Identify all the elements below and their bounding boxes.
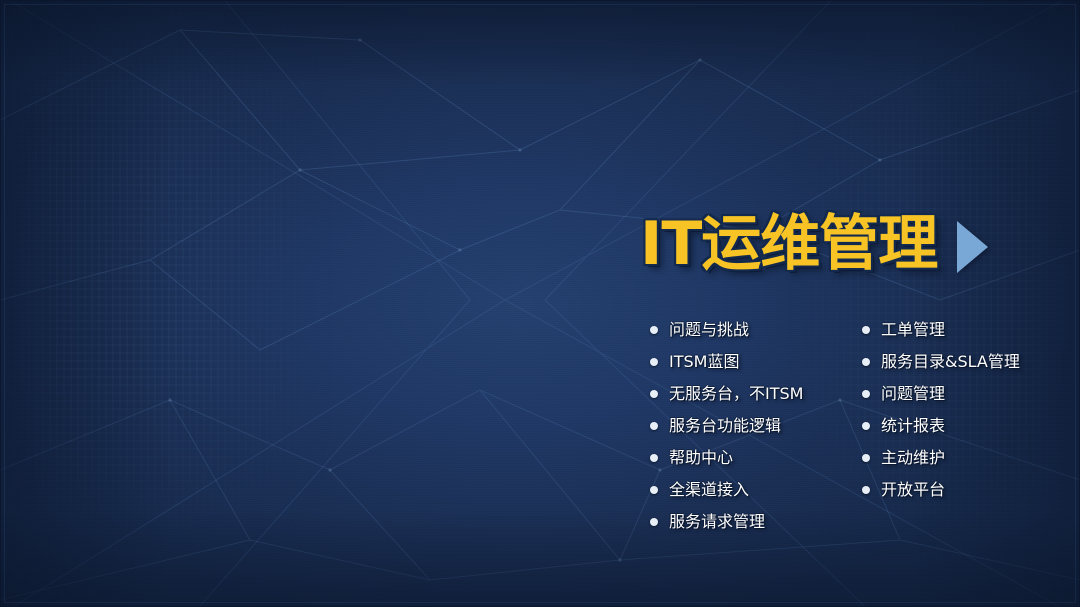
list-item[interactable]: 全渠道接入: [650, 474, 862, 506]
list-item-label: 全渠道接入: [669, 482, 749, 498]
bullet-column-left: 问题与挑战 ITSM蓝图 无服务台，不ITSM 服务台功能逻辑 帮助中心: [650, 314, 862, 538]
list-item[interactable]: 服务台功能逻辑: [650, 410, 862, 442]
bullet-dot-icon: [650, 422, 658, 430]
list-item[interactable]: 问题与挑战: [650, 314, 862, 346]
presentation-slide: IT运维管理 问题与挑战 ITSM蓝图 无服务台，不ITSM: [0, 0, 1080, 607]
list-item-label: 服务请求管理: [669, 514, 765, 530]
bullet-dot-icon: [862, 326, 870, 334]
list-item-label: ITSM蓝图: [669, 354, 739, 370]
list-item[interactable]: 工单管理: [862, 314, 1080, 346]
bullet-dot-icon: [650, 390, 658, 398]
title-row: IT运维管理: [640, 214, 988, 274]
list-item-label: 帮助中心: [669, 450, 733, 466]
list-item[interactable]: 问题管理: [862, 378, 1080, 410]
list-item[interactable]: 统计报表: [862, 410, 1080, 442]
list-item-label: 主动维护: [881, 450, 945, 466]
list-item[interactable]: ITSM蓝图: [650, 346, 862, 378]
list-item-label: 服务目录&SLA管理: [881, 354, 1020, 370]
list-item[interactable]: 帮助中心: [650, 442, 862, 474]
bullet-column-right: 工单管理 服务目录&SLA管理 问题管理 统计报表 主动维护: [862, 314, 1080, 506]
list-item-label: 无服务台，不ITSM: [669, 386, 803, 402]
bullet-dot-icon: [650, 358, 658, 366]
bullet-dot-icon: [650, 454, 658, 462]
bullet-dot-icon: [862, 454, 870, 462]
bullet-columns: 问题与挑战 ITSM蓝图 无服务台，不ITSM 服务台功能逻辑 帮助中心: [650, 314, 1080, 538]
list-item[interactable]: 主动维护: [862, 442, 1080, 474]
list-item-label: 开放平台: [881, 482, 945, 498]
list-item-label: 问题管理: [881, 386, 945, 402]
list-item-label: 工单管理: [881, 322, 945, 338]
list-item-label: 问题与挑战: [669, 322, 749, 338]
slide-content: IT运维管理 问题与挑战 ITSM蓝图 无服务台，不ITSM: [0, 0, 1080, 607]
list-item-label: 服务台功能逻辑: [669, 418, 781, 434]
list-item[interactable]: 无服务台，不ITSM: [650, 378, 862, 410]
bullet-dot-icon: [862, 358, 870, 366]
bullet-dot-icon: [650, 486, 658, 494]
bullet-dot-icon: [650, 326, 658, 334]
list-item[interactable]: 开放平台: [862, 474, 1080, 506]
list-item-label: 统计报表: [881, 418, 945, 434]
bullet-dot-icon: [862, 422, 870, 430]
list-item[interactable]: 服务请求管理: [650, 506, 862, 538]
bullet-dot-icon: [862, 390, 870, 398]
list-item[interactable]: 服务目录&SLA管理: [862, 346, 1080, 378]
play-triangle-icon: [957, 221, 988, 273]
page-title: IT运维管理: [640, 214, 937, 274]
bullet-dot-icon: [650, 518, 658, 526]
bullet-dot-icon: [862, 486, 870, 494]
